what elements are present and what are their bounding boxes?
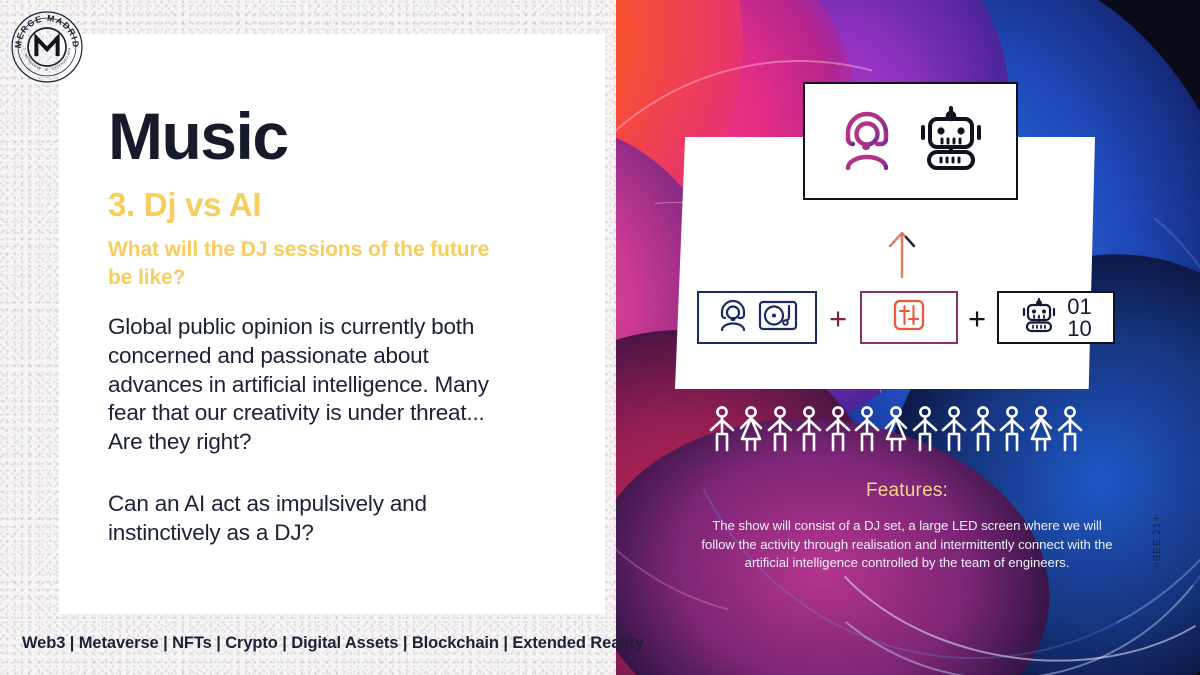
arrow-up-icon	[884, 228, 920, 280]
features-body: The show will consist of a DJ set, a lar…	[700, 517, 1114, 573]
operator-plus-1: +	[829, 303, 847, 334]
binary-label: 01 10	[1067, 296, 1091, 340]
body-paragraph-2: Can an AI act as impulsively and instinc…	[108, 490, 488, 548]
dj-headphones-icon	[836, 106, 898, 177]
person-icon	[998, 406, 1026, 452]
merge-madrid-logo: MERGE MADRID WEB3 · METAVERSE · AI · EXT…	[9, 9, 85, 85]
robot-head-icon	[916, 105, 986, 178]
section-question: What will the DJ sessions of the future …	[108, 236, 508, 291]
mixer-sliders-icon	[892, 298, 926, 337]
section-title: 3. Dj vs AI	[108, 188, 261, 221]
dj-headphones-icon	[717, 298, 749, 337]
audience-people-row	[708, 406, 1100, 452]
person-icon	[795, 406, 823, 452]
person-icon	[853, 406, 881, 452]
footer-topics: Web3 | Metaverse | NFTs | Crypto | Digit…	[22, 634, 644, 653]
slide-root: MERGE MADRID WEB3 · METAVERSE · AI · EXT…	[0, 0, 1200, 675]
box-mixer	[860, 291, 958, 344]
box-dj	[697, 291, 817, 344]
features-title: Features:	[697, 480, 1117, 502]
equation-row: + +	[697, 291, 1117, 347]
body-paragraph-1: Global public opinion is currently both …	[108, 313, 496, 457]
person-icon	[1027, 406, 1055, 452]
person-icon	[940, 406, 968, 452]
person-icon	[824, 406, 852, 452]
person-icon	[1056, 406, 1084, 452]
binary-line-2: 10	[1067, 316, 1091, 341]
person-icon	[766, 406, 794, 452]
person-icon	[737, 406, 765, 452]
person-icon	[911, 406, 939, 452]
person-icon	[969, 406, 997, 452]
box-ai: 01 10	[997, 291, 1115, 344]
page-title: Music	[108, 103, 288, 169]
person-icon	[708, 406, 736, 452]
person-icon	[882, 406, 910, 452]
robot-head-icon	[1020, 297, 1058, 338]
edge-watermark: #SEE.21+	[1152, 515, 1163, 568]
turntable-icon	[758, 298, 798, 337]
result-box	[803, 82, 1018, 200]
operator-plus-2: +	[968, 303, 986, 334]
